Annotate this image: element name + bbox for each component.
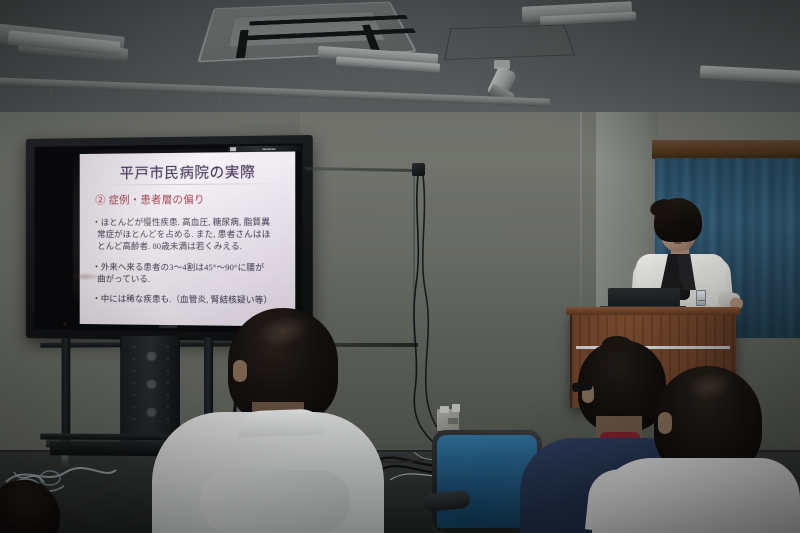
presentation-room-photo: 平戸市民病院の実際 ② 症例・患者層の偏り ・ほとんどが慢性疾患. 高血圧, 糖…: [0, 0, 800, 533]
podium-edge-shadow: [570, 312, 574, 408]
power-led-icon: [63, 323, 66, 326]
attendee-ear: [658, 412, 672, 434]
slide-subtitle: ② 症例・患者層の偏り: [95, 191, 287, 207]
power-plug: [452, 404, 460, 412]
presenter-mouth: [674, 242, 682, 244]
slide-bullet: ・中には稀な疾患も.（血管炎, 腎結核疑い等）: [92, 292, 287, 306]
stand-center-column: [120, 336, 180, 445]
attendee-shirt-fold: [200, 470, 350, 533]
presenter-id-badge: [696, 290, 706, 306]
mount-hole: [146, 406, 157, 417]
screen-overlay-bar: ▬▬▬: [228, 145, 301, 152]
display-screen: 平戸市民病院の実際 ② 症例・患者層の偏り ・ほとんどが慢性疾患. 高血圧, 糖…: [34, 143, 302, 332]
slide-bullet: ・外来へ来る患者の3〜4割は45°〜90°に腰が 曲がっている.: [92, 260, 287, 285]
mount-hole: [146, 350, 157, 361]
mount-hole: [146, 378, 157, 389]
slide-title: 平戸市民病院の実際: [89, 161, 287, 184]
ac-slot: [247, 28, 416, 40]
ac-inner-panel: [228, 11, 386, 47]
attendee-ear: [233, 360, 247, 382]
attendee-white-coat-body: [592, 458, 800, 533]
slide-content: 平戸市民病院の実際 ② 症例・患者層の偏り ・ほとんどが慢性疾患. 高血圧, 糖…: [80, 151, 296, 326]
podium-top-surface: [566, 307, 740, 315]
ac-slot: [236, 30, 249, 58]
slide-bullet: ・ほとんどが慢性疾患. 高血圧, 糖尿病, 脂質異 常症がほとんどを占める. ま…: [92, 216, 287, 253]
power-plug: [440, 406, 449, 413]
slide-bullet-list: ・ほとんどが慢性疾患. 高血圧, 糖尿病, 脂質異 常症がほとんどを占める. ま…: [92, 216, 287, 307]
attendee-shirt-collar: [238, 409, 325, 438]
title-underline: [97, 183, 279, 185]
overlay-bar-text: ▬▬▬: [263, 146, 276, 151]
curtain-valance: [652, 140, 800, 159]
overlay-bar-dot: [230, 147, 236, 151]
ceiling-access-panel: [444, 25, 575, 60]
ac-slot: [249, 15, 408, 26]
attendee-hair-tuft: [602, 336, 632, 352]
ac-slot: [362, 25, 380, 52]
power-plug: [448, 418, 458, 424]
display-brand-logo: [159, 325, 177, 328]
screen-smudge: [69, 273, 102, 281]
